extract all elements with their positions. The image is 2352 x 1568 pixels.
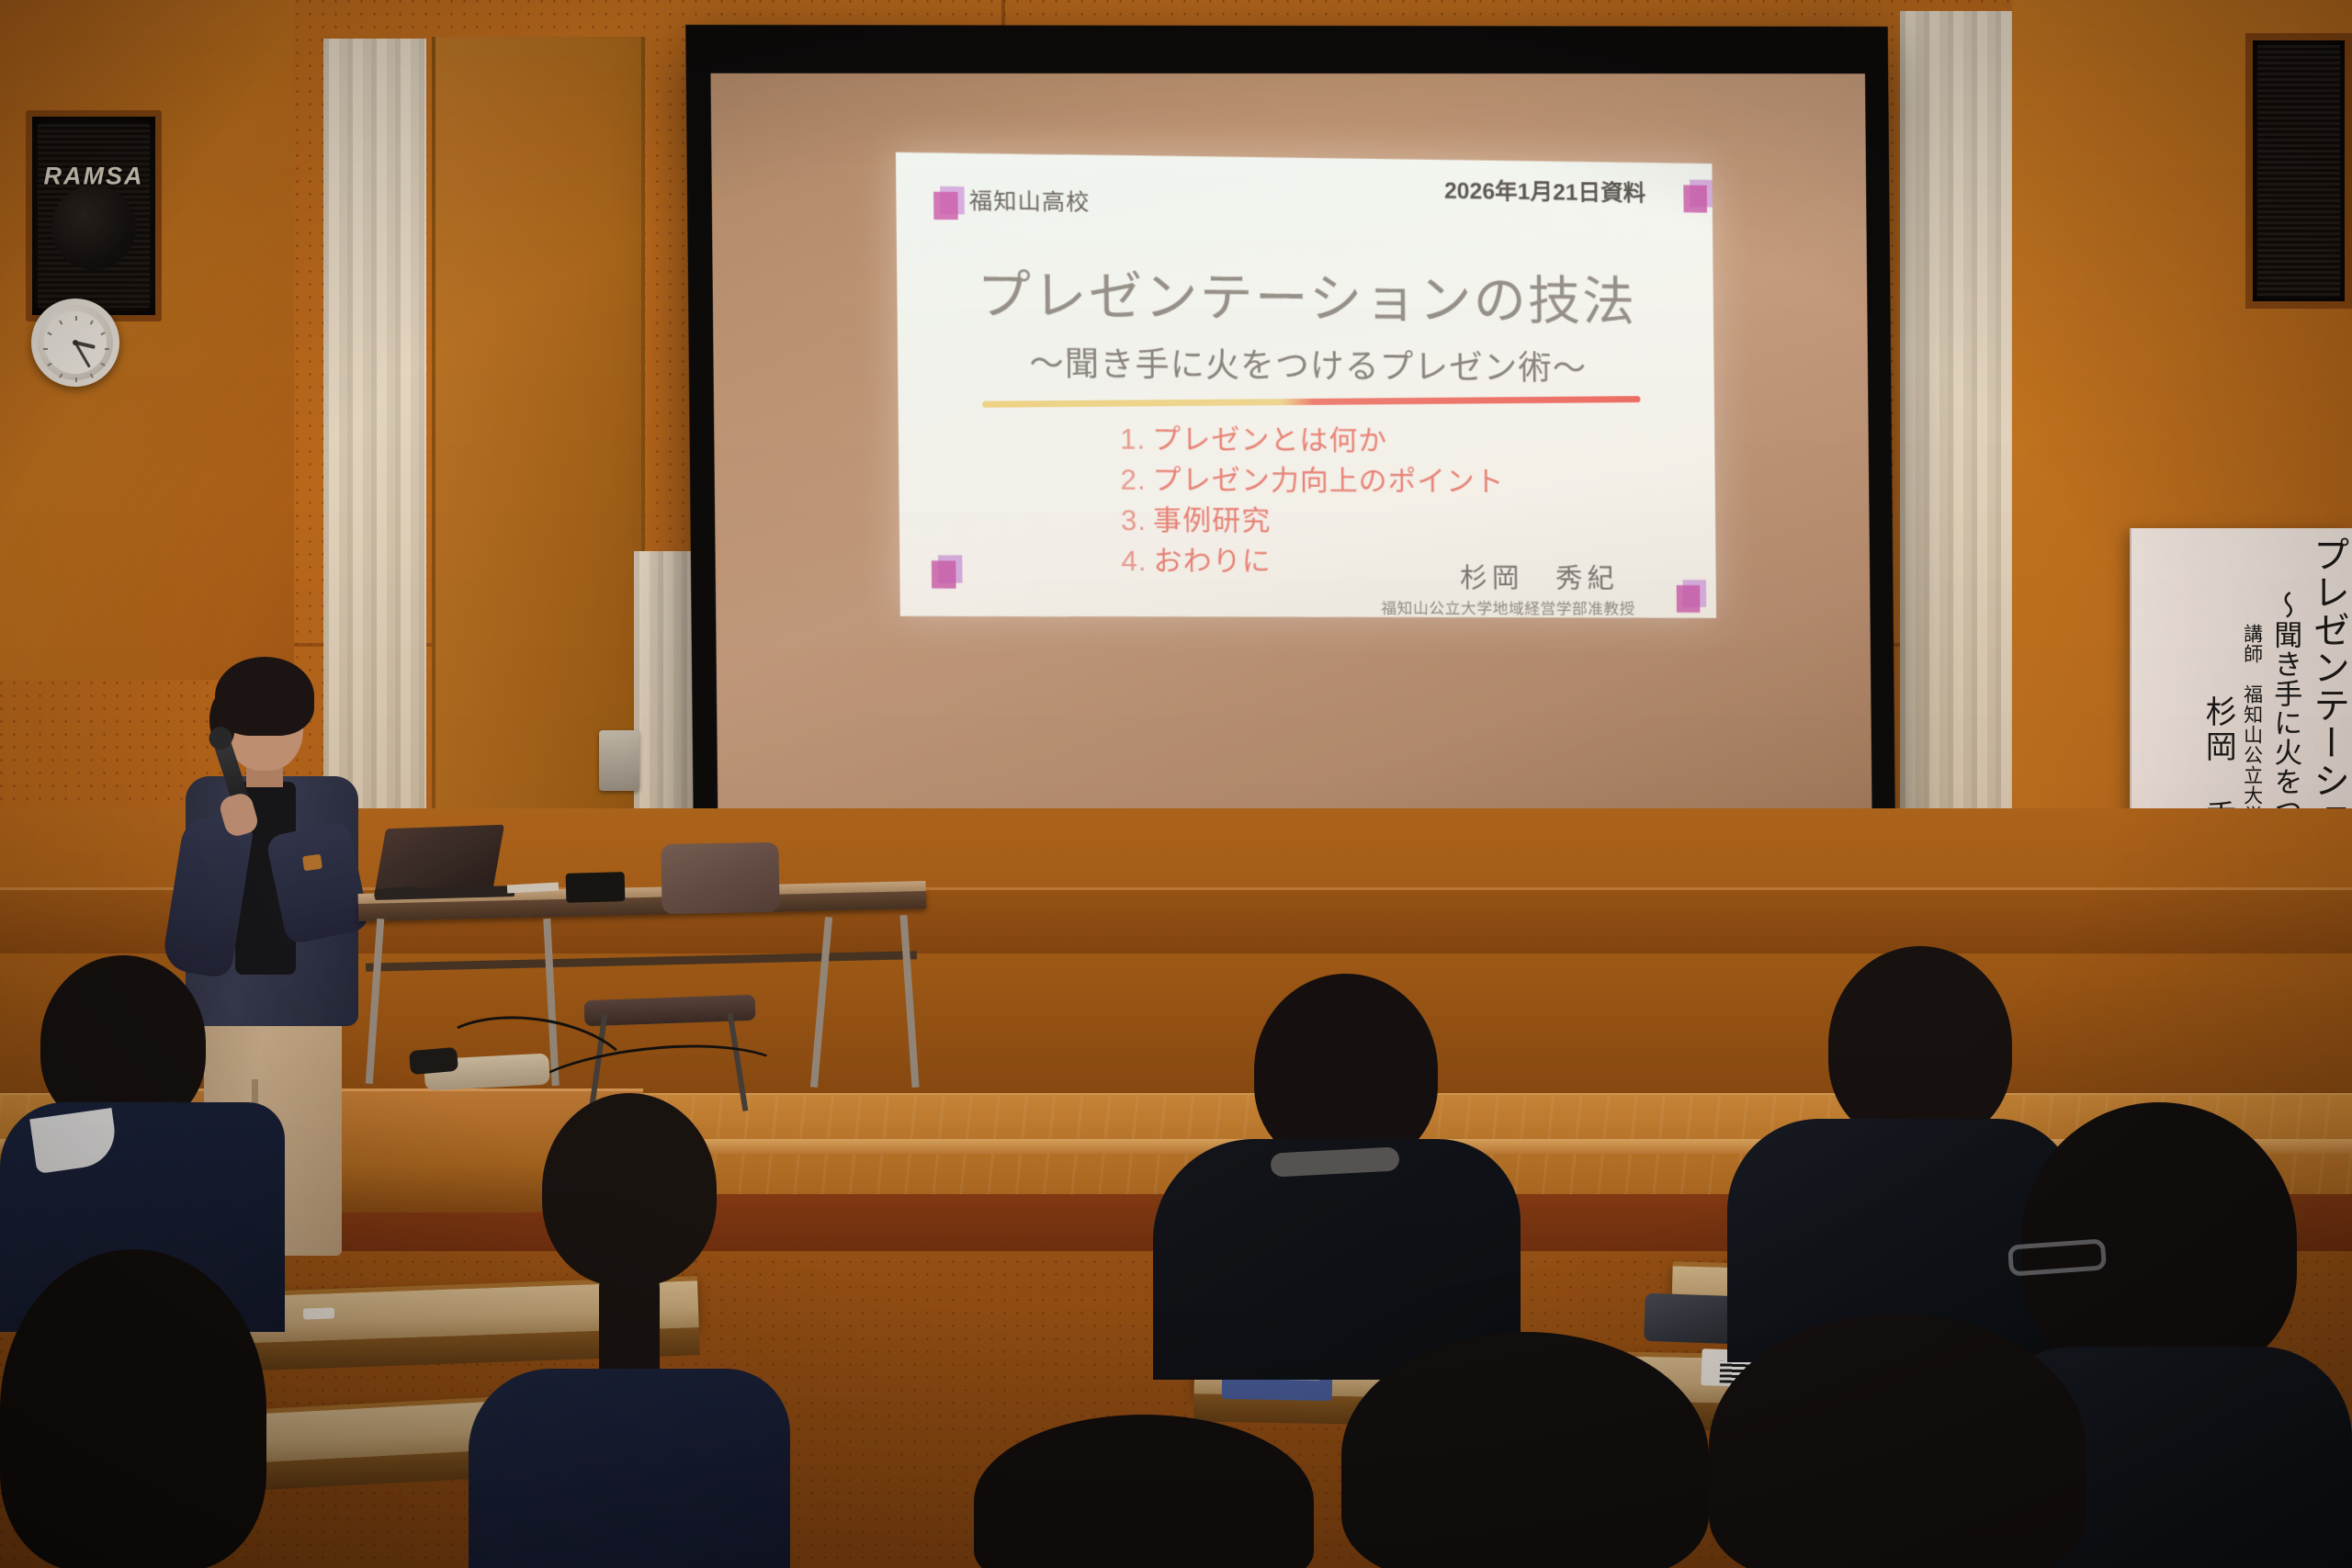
projection-screen-surface: 福知山高校 2026年1月21日資料 プレゼンテーションの技法 ～聞き手に火をつ… [710,73,1872,892]
list-item: 2.プレゼン力向上のポイント [1120,460,1504,502]
clock-center-pin [73,340,78,345]
audience-member [459,1093,790,1568]
lecture-hall-scene: RAMSA [0,0,2352,1568]
list-item: 3.事例研究 [1121,501,1505,543]
audience-member [0,1249,303,1568]
slide-date-label: 2026年1月21日資料 [1444,173,1646,209]
student-head [1254,974,1438,1167]
slide-title: プレゼンテーションの技法 [897,251,1713,336]
student-head [1709,1314,2086,1568]
agenda-text: 事例研究 [1153,504,1272,537]
student-torso [469,1369,790,1568]
slide-presenter-affiliation: 福知山公立大学地域経営学部准教授 [1381,595,1635,618]
presenter-pocket-square [302,854,322,872]
speaker-grille-right [2257,45,2340,297]
projection-screen-frame: 福知山高校 2026年1月21日資料 プレゼンテーションの技法 ～聞き手に火をつ… [685,25,1895,920]
eraser-on-desk [303,1307,334,1319]
slide-agenda-list: 1.プレゼンとは何か 2.プレゼン力向上のポイント 3.事例研究 4.おわりに [1120,419,1506,582]
agenda-number: 2. [1120,464,1146,496]
presentation-slide: 福知山高校 2026年1月21日資料 プレゼンテーションの技法 ～聞き手に火をつ… [896,152,1716,618]
agenda-text: プレゼン力向上のポイント [1152,464,1504,498]
wall-speaker-right [2245,33,2352,309]
audience-member [1341,1332,1736,1568]
agenda-number: 3. [1121,504,1147,536]
stage-chair-back [661,842,779,914]
speaker-brand-label: RAMSA [44,162,144,190]
audience-member [1709,1314,2104,1568]
speaker-driver [51,186,136,270]
audience-member [974,1415,1323,1568]
wall-clock [31,299,119,387]
student-head [0,1249,266,1568]
student-head [1341,1332,1709,1568]
equipment-box-on-table [566,872,626,903]
student-head [974,1415,1314,1568]
slide-presenter-name: 杉岡 秀紀 [1460,555,1619,595]
floor-equipment [409,1047,458,1075]
slide-subtitle: ～聞き手に火をつけるプレゼン術～ [898,334,1714,391]
clock-face [44,311,107,374]
agenda-text: おわりに [1153,545,1272,578]
agenda-number: 1. [1120,423,1146,455]
audience-member [1153,974,1521,1378]
agenda-text: プレゼンとは何か [1152,423,1387,457]
list-item: 1.プレゼンとは何か [1120,419,1504,462]
list-item: 4.おわりに [1121,541,1505,583]
student-head [542,1093,717,1286]
wall-mounted-fixture [599,730,639,791]
wall-speaker-left: RAMSA [26,110,162,321]
slide-school-label: 福知山高校 [969,183,1091,218]
slide-divider-rule [982,396,1640,408]
agenda-number: 4. [1121,545,1147,577]
presenter-hair [215,657,314,736]
